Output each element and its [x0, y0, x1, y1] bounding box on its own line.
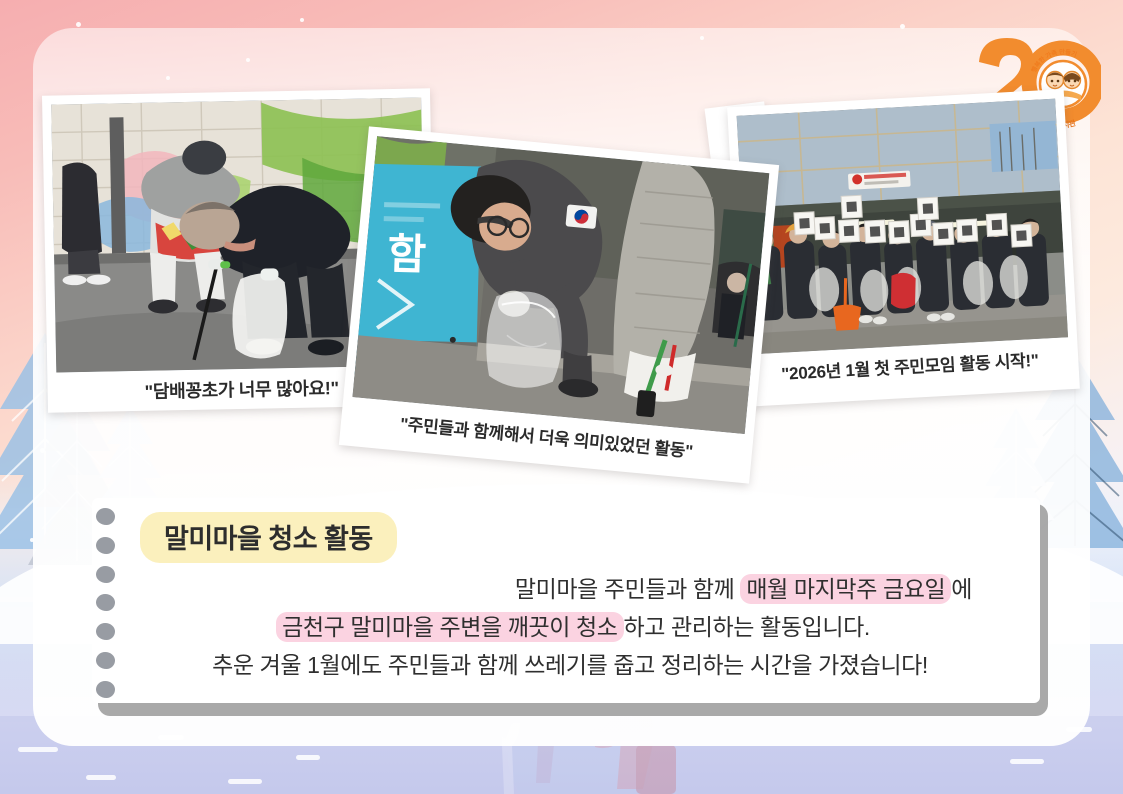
binding-dot	[96, 508, 115, 525]
binding-dot	[96, 623, 115, 640]
body-segment: 말미마을 주민들과 함께	[515, 576, 741, 602]
snow-particle	[76, 22, 81, 27]
binding-dot	[96, 652, 115, 669]
svg-text:함: 함	[387, 230, 427, 278]
snow-dash	[296, 755, 320, 760]
snow-dash	[18, 747, 58, 752]
photo-card-group-signs[interactable]: "2026년 1월 첫 주민모임 활동 시작!"	[727, 89, 1080, 407]
photo-card-bagging-trash[interactable]: 함	[339, 126, 779, 483]
poster-stage: 행복한 가족 만들기 함께하는 복지관	[0, 0, 1123, 794]
body-line-2: 금천구 말미마을 주변을 깨끗이 청소하고 관리하는 활동입니다.	[130, 608, 1010, 646]
binding-dot	[96, 566, 115, 583]
body-segment: 추운 겨울 1월에도 주민들과 함께 쓰레기를 줍고 정리하는 시간을 가졌습니…	[212, 652, 928, 678]
body-segment: 하고 관리하는 활동입니다.	[624, 614, 870, 640]
snow-dash	[86, 775, 116, 780]
binding-dot	[96, 594, 115, 611]
activity-title: 말미마을 청소 활동	[140, 512, 397, 563]
body-line-1: 말미마을 주민들과 함께 매월 마지막주 금요일에	[130, 570, 1010, 608]
note-body: 말미마을 주민들과 함께 매월 마지막주 금요일에 금천구 말미마을 주변을 깨…	[130, 570, 1010, 684]
note-title-container: 말미마을 청소 활동	[140, 512, 397, 563]
photo-image-group-signs	[737, 99, 1068, 355]
snow-particle	[300, 18, 304, 22]
body-line-3: 추운 겨울 1월에도 주민들과 함께 쓰레기를 줍고 정리하는 시간을 가졌습니…	[130, 646, 1010, 684]
snow-dash	[1010, 759, 1044, 764]
body-segment-highlight: 매월 마지막주 금요일	[740, 574, 951, 604]
body-segment-highlight: 금천구 말미마을 주변을 깨끗이 청소	[276, 612, 623, 642]
binding-dot	[96, 537, 115, 554]
note-binding-dots	[96, 508, 122, 698]
photo-image-bagging-trash: 함	[352, 136, 769, 434]
binding-dot	[96, 681, 115, 698]
snow-dash	[228, 779, 262, 784]
body-segment: 에	[951, 576, 972, 602]
